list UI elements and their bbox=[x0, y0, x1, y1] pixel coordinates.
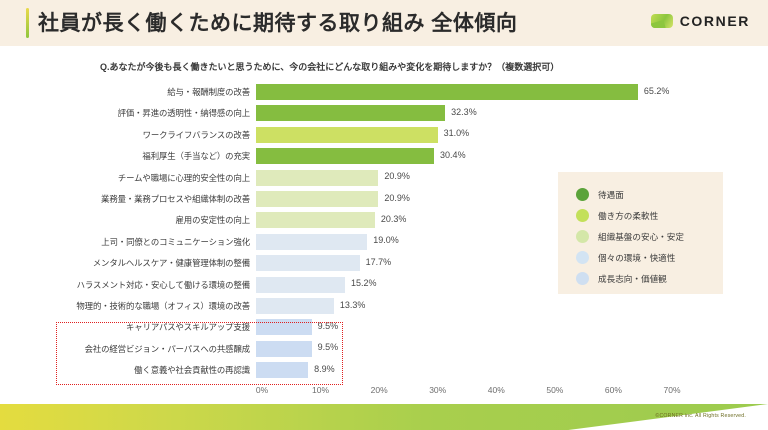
bar bbox=[256, 234, 367, 250]
bar bbox=[256, 84, 638, 100]
axis-tick-label: 40% bbox=[488, 385, 505, 395]
bar-value-label: 8.9% bbox=[314, 364, 335, 374]
chart-row: 給与・報酬制度の改善65.2% bbox=[0, 82, 700, 102]
bar bbox=[256, 105, 445, 121]
category-label: 働く意義や社会貢献性の再認識 bbox=[0, 364, 256, 376]
copyright-text: ©CORNER inc. All Rights Reserved. bbox=[655, 413, 746, 419]
bar-value-label: 31.0% bbox=[444, 128, 470, 138]
legend-label: 成長志向・価値観 bbox=[598, 273, 667, 285]
category-label: 給与・報酬制度の改善 bbox=[0, 86, 256, 98]
bar-value-label: 17.7% bbox=[366, 257, 392, 267]
bar-track: 30.4% bbox=[256, 146, 700, 166]
legend-item: 個々の環境・快適性 bbox=[576, 247, 723, 268]
chart-row: 福利厚生（手当など）の充実30.4% bbox=[0, 146, 700, 166]
title-accent-bar bbox=[26, 8, 29, 38]
category-label: 上司・同僚とのコミュニケーション強化 bbox=[0, 236, 256, 248]
bar bbox=[256, 362, 308, 378]
chart-row: 会社の経営ビジョン・パーパスへの共感醸成9.5% bbox=[0, 339, 700, 359]
page-title: 社員が長く働くために期待する取り組み 全体傾向 bbox=[38, 7, 517, 37]
bar-value-label: 30.4% bbox=[440, 150, 466, 160]
category-label: チームや職場に心理的安全性の向上 bbox=[0, 172, 256, 184]
survey-chart-page: 社員が長く働くために期待する取り組み 全体傾向 CORNER Q.あなたが今後も… bbox=[0, 0, 768, 430]
bar bbox=[256, 212, 375, 228]
bar bbox=[256, 170, 378, 186]
bar bbox=[256, 255, 360, 271]
legend-item: 成長志向・価値観 bbox=[576, 268, 723, 289]
bar-track: 65.2% bbox=[256, 82, 700, 102]
category-label: 物理的・技術的な職場（オフィス）環境の改善 bbox=[0, 300, 256, 312]
category-label: 会社の経営ビジョン・パーパスへの共感醸成 bbox=[0, 343, 256, 355]
bar bbox=[256, 298, 334, 314]
x-axis: 0%10%20%30%40%50%60%70% bbox=[0, 385, 768, 403]
bar-value-label: 20.9% bbox=[384, 193, 410, 203]
axis-tick-label: 50% bbox=[546, 385, 563, 395]
chart-legend: 待遇面働き方の柔軟性組織基盤の安心・安定個々の環境・快適性成長志向・価値観 bbox=[558, 172, 723, 294]
category-label: キャリアパスやスキルアップ支援 bbox=[0, 321, 256, 333]
chart-row: 働く意義や社会貢献性の再認識8.9% bbox=[0, 360, 700, 380]
survey-question-text: Q.あなたが今後も長く働きたいと思うために、今の会社にどんな取り組みや変化を期待… bbox=[100, 60, 559, 73]
bar bbox=[256, 191, 378, 207]
legend-color-swatch-icon bbox=[576, 272, 589, 285]
bar-value-label: 20.3% bbox=[381, 214, 407, 224]
bar bbox=[256, 319, 312, 335]
legend-label: 待遇面 bbox=[598, 189, 624, 201]
bar-track: 8.9% bbox=[256, 360, 700, 380]
bar-value-label: 20.9% bbox=[384, 171, 410, 181]
bar-value-label: 13.3% bbox=[340, 300, 366, 310]
corner-logo-mark-icon bbox=[651, 14, 673, 28]
bar-track: 13.3% bbox=[256, 296, 700, 316]
page-footer: ©CORNER inc. All Rights Reserved. bbox=[0, 404, 768, 430]
footer-green-band bbox=[0, 404, 768, 430]
page-header: 社員が長く働くために期待する取り組み 全体傾向 CORNER bbox=[0, 0, 768, 46]
category-label: 雇用の安定性の向上 bbox=[0, 214, 256, 226]
legend-color-swatch-icon bbox=[576, 188, 589, 201]
bar bbox=[256, 127, 438, 143]
corner-logo-text: CORNER bbox=[680, 13, 750, 29]
category-label: ワークライフバランスの改善 bbox=[0, 129, 256, 141]
bar-value-label: 65.2% bbox=[644, 86, 670, 96]
legend-color-swatch-icon bbox=[576, 251, 589, 264]
bar bbox=[256, 148, 434, 164]
bar-track: 31.0% bbox=[256, 125, 700, 145]
legend-item: 働き方の柔軟性 bbox=[576, 205, 723, 226]
axis-tick-label: 30% bbox=[429, 385, 446, 395]
axis-tick-label: 70% bbox=[663, 385, 680, 395]
bar-track: 32.3% bbox=[256, 103, 700, 123]
legend-label: 働き方の柔軟性 bbox=[598, 210, 658, 222]
bar-track: 9.5% bbox=[256, 317, 700, 337]
chart-row: キャリアパスやスキルアップ支援9.5% bbox=[0, 317, 700, 337]
corner-logo: CORNER bbox=[651, 13, 750, 29]
chart-row: 物理的・技術的な職場（オフィス）環境の改善13.3% bbox=[0, 296, 700, 316]
chart-row: 評価・昇進の透明性・納得感の向上32.3% bbox=[0, 103, 700, 123]
legend-color-swatch-icon bbox=[576, 209, 589, 222]
bar-value-label: 19.0% bbox=[373, 235, 399, 245]
axis-tick-label: 60% bbox=[605, 385, 622, 395]
bar bbox=[256, 277, 345, 293]
category-label: メンタルヘルスケア・健康管理体制の整備 bbox=[0, 257, 256, 269]
category-label: 評価・昇進の透明性・納得感の向上 bbox=[0, 107, 256, 119]
legend-color-swatch-icon bbox=[576, 230, 589, 243]
chart-row: ワークライフバランスの改善31.0% bbox=[0, 125, 700, 145]
category-label: 福利厚生（手当など）の充実 bbox=[0, 150, 256, 162]
legend-item: 組織基盤の安心・安定 bbox=[576, 226, 723, 247]
legend-item: 待遇面 bbox=[576, 184, 723, 205]
axis-tick-label: 0% bbox=[256, 385, 268, 395]
bar-value-label: 15.2% bbox=[351, 278, 377, 288]
category-label: 業務量・業務プロセスや組織体制の改善 bbox=[0, 193, 256, 205]
legend-label: 組織基盤の安心・安定 bbox=[598, 231, 684, 243]
category-label: ハラスメント対応・安心して働ける環境の整備 bbox=[0, 279, 256, 291]
bar-value-label: 9.5% bbox=[318, 321, 339, 331]
bar-track: 9.5% bbox=[256, 339, 700, 359]
axis-tick-label: 10% bbox=[312, 385, 329, 395]
bar-value-label: 9.5% bbox=[318, 342, 339, 352]
axis-tick-label: 20% bbox=[371, 385, 388, 395]
bar-value-label: 32.3% bbox=[451, 107, 477, 117]
legend-label: 個々の環境・快適性 bbox=[598, 252, 675, 264]
bar bbox=[256, 341, 312, 357]
